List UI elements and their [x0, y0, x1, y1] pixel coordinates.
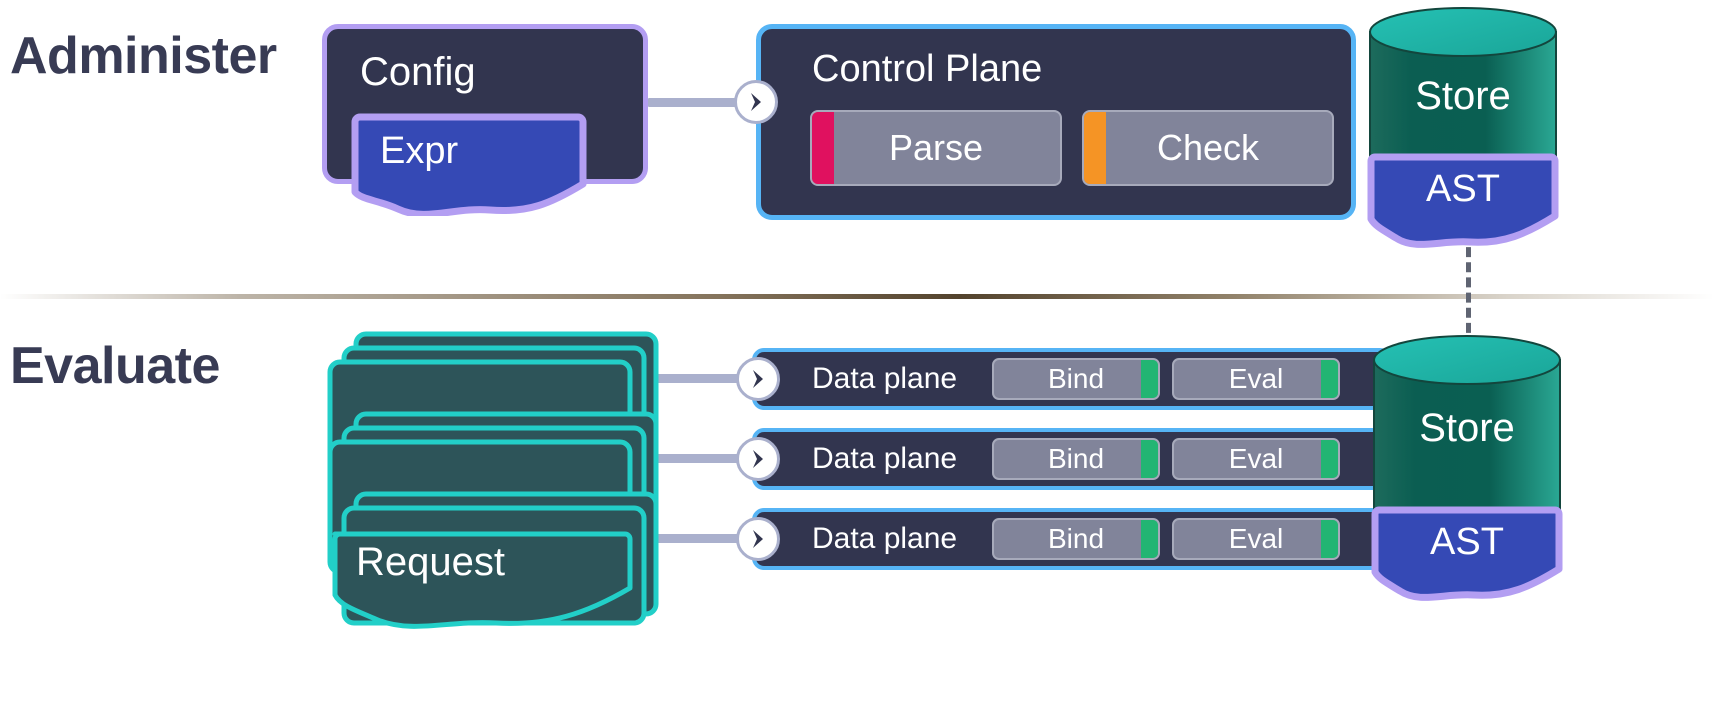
data-plane-row-1: Data plane Bind Eval	[752, 348, 1392, 410]
stage-label-bind-2: Bind	[994, 445, 1158, 473]
stage-chip-bind-3[interactable]: Bind	[992, 518, 1160, 560]
stage-chip-eval-3[interactable]: Eval	[1172, 518, 1340, 560]
expr-label: Expr	[380, 132, 458, 170]
stage-chip-bind-2[interactable]: Bind	[992, 438, 1160, 480]
chevron-right-icon-2	[736, 437, 780, 481]
band-label-evaluate: Evaluate	[10, 340, 220, 392]
data-plane-title-2: Data plane	[812, 444, 957, 474]
data-plane-row-2: Data plane Bind Eval	[752, 428, 1392, 490]
stage-chip-bind-1[interactable]: Bind	[992, 358, 1160, 400]
diagram-canvas: Administer Config Expr Control Plane Par…	[0, 0, 1714, 705]
data-plane-row-3: Data plane Bind Eval	[752, 508, 1392, 570]
stage-label-check: Check	[1084, 130, 1332, 166]
control-plane-title: Control Plane	[812, 50, 1042, 88]
stage-label-eval-1: Eval	[1174, 365, 1338, 393]
stage-chip-parse[interactable]: Parse	[810, 110, 1062, 186]
data-plane-title-3: Data plane	[812, 524, 957, 554]
band-label-administer: Administer	[10, 30, 277, 82]
ast-label-evaluate: AST	[1370, 523, 1564, 561]
chevron-right-icon-1	[736, 357, 780, 401]
stage-label-eval-2: Eval	[1174, 445, 1338, 473]
stage-chip-check[interactable]: Check	[1082, 110, 1334, 186]
stage-label-bind-1: Bind	[994, 365, 1158, 393]
chevron-right-icon	[734, 80, 778, 124]
chevron-right-icon-3	[736, 517, 780, 561]
request-stack	[316, 330, 661, 630]
store-label-administer: Store	[1368, 76, 1558, 116]
request-label: Request	[356, 542, 505, 582]
data-plane-title-1: Data plane	[812, 364, 957, 394]
dashed-connector-ast	[1466, 232, 1471, 348]
stage-label-eval-3: Eval	[1174, 525, 1338, 553]
config-title: Config	[360, 52, 476, 92]
stage-label-bind-3: Bind	[994, 525, 1158, 553]
stage-chip-eval-2[interactable]: Eval	[1172, 438, 1340, 480]
stage-label-parse: Parse	[812, 130, 1060, 166]
band-divider	[0, 294, 1714, 299]
stage-chip-eval-1[interactable]: Eval	[1172, 358, 1340, 400]
store-label-evaluate: Store	[1372, 408, 1562, 448]
ast-label-administer: AST	[1366, 170, 1560, 208]
